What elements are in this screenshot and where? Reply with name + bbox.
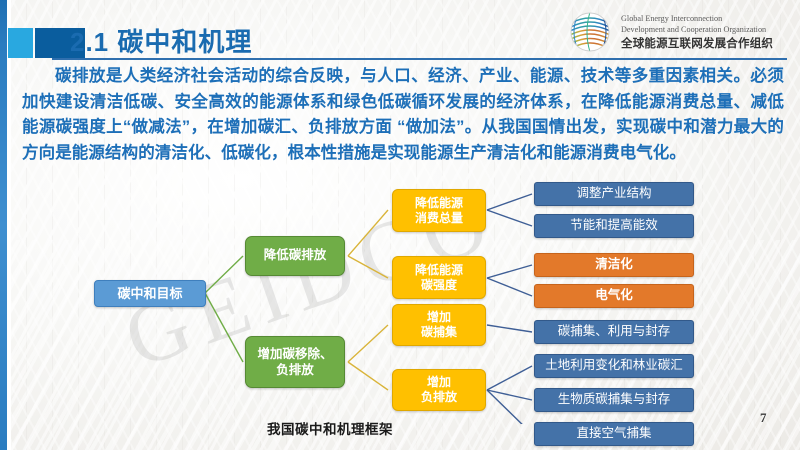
node-increase-negative-emissions[interactable]: 增加 负排放 [392, 369, 486, 411]
logo-chinese-name: 全球能源互联网发展合作组织 [621, 36, 773, 52]
node-reduce-emissions[interactable]: 降低碳排放 [245, 236, 345, 276]
node-l3-1-line1: 降低能源 [415, 263, 463, 277]
node-increase-removal[interactable]: 增加碳移除、 负排放 [245, 336, 345, 388]
node-l3-3-line1: 增加 [427, 375, 451, 389]
node-l3-3-line2: 负排放 [421, 390, 457, 404]
logo-english-line2: Development and Cooperation Organization [621, 24, 773, 35]
page-number: 7 [760, 410, 767, 426]
diagram-caption: 我国碳中和机理框架 [0, 418, 660, 438]
node-l3-2-line1: 增加 [427, 310, 451, 324]
node-adjust-industrial-structure[interactable]: 调整产业结构 [534, 182, 694, 206]
node-increase-carbon-capture[interactable]: 增加 碳捕集 [392, 304, 486, 346]
node-increase-removal-line2: 负排放 [276, 363, 314, 377]
header-square-light [8, 28, 33, 58]
logo-english-line1: Global Energy Interconnection [621, 13, 773, 24]
page-title: 2.1 碳中和机理 [70, 22, 252, 59]
header-divider [52, 58, 787, 60]
node-reduce-carbon-intensity[interactable]: 降低能源 碳强度 [392, 256, 486, 299]
node-l3-1-line2: 碳强度 [421, 278, 457, 292]
node-beccs[interactable]: 生物质碳捕集与封存 [534, 388, 694, 412]
node-l3-0-line2: 消费总量 [415, 211, 463, 225]
node-l3-0-line1: 降低能源 [415, 196, 463, 210]
slide-canvas: GEIDCO 2.1 碳中和机理 [0, 0, 800, 450]
node-lulucf[interactable]: 土地利用变化和林业碳汇 [534, 354, 694, 378]
node-cleanification[interactable]: 清洁化 [534, 253, 694, 277]
carbon-neutrality-framework-diagram: 碳中和目标 降低碳排放 增加碳移除、 负排放 降低能源 消费总量 降低能源 碳强… [0, 172, 800, 424]
body-paragraph: 碳排放是人类经济社会活动的综合反映，与人口、经济、产业、能源、技术等多重因素相关… [22, 64, 784, 166]
node-reduce-total-energy-consumption[interactable]: 降低能源 消费总量 [392, 189, 486, 232]
node-root[interactable]: 碳中和目标 [94, 280, 206, 307]
node-increase-removal-line1: 增加碳移除、 [257, 347, 332, 361]
node-electrification[interactable]: 电气化 [534, 284, 694, 308]
node-l3-2-line2: 碳捕集 [421, 325, 457, 339]
organization-logo: Global Energy Interconnection Developmen… [566, 8, 773, 56]
node-energy-saving-efficiency[interactable]: 节能和提高能效 [534, 214, 694, 238]
node-ccus[interactable]: 碳捕集、利用与封存 [534, 320, 694, 344]
globe-network-icon [566, 8, 614, 56]
